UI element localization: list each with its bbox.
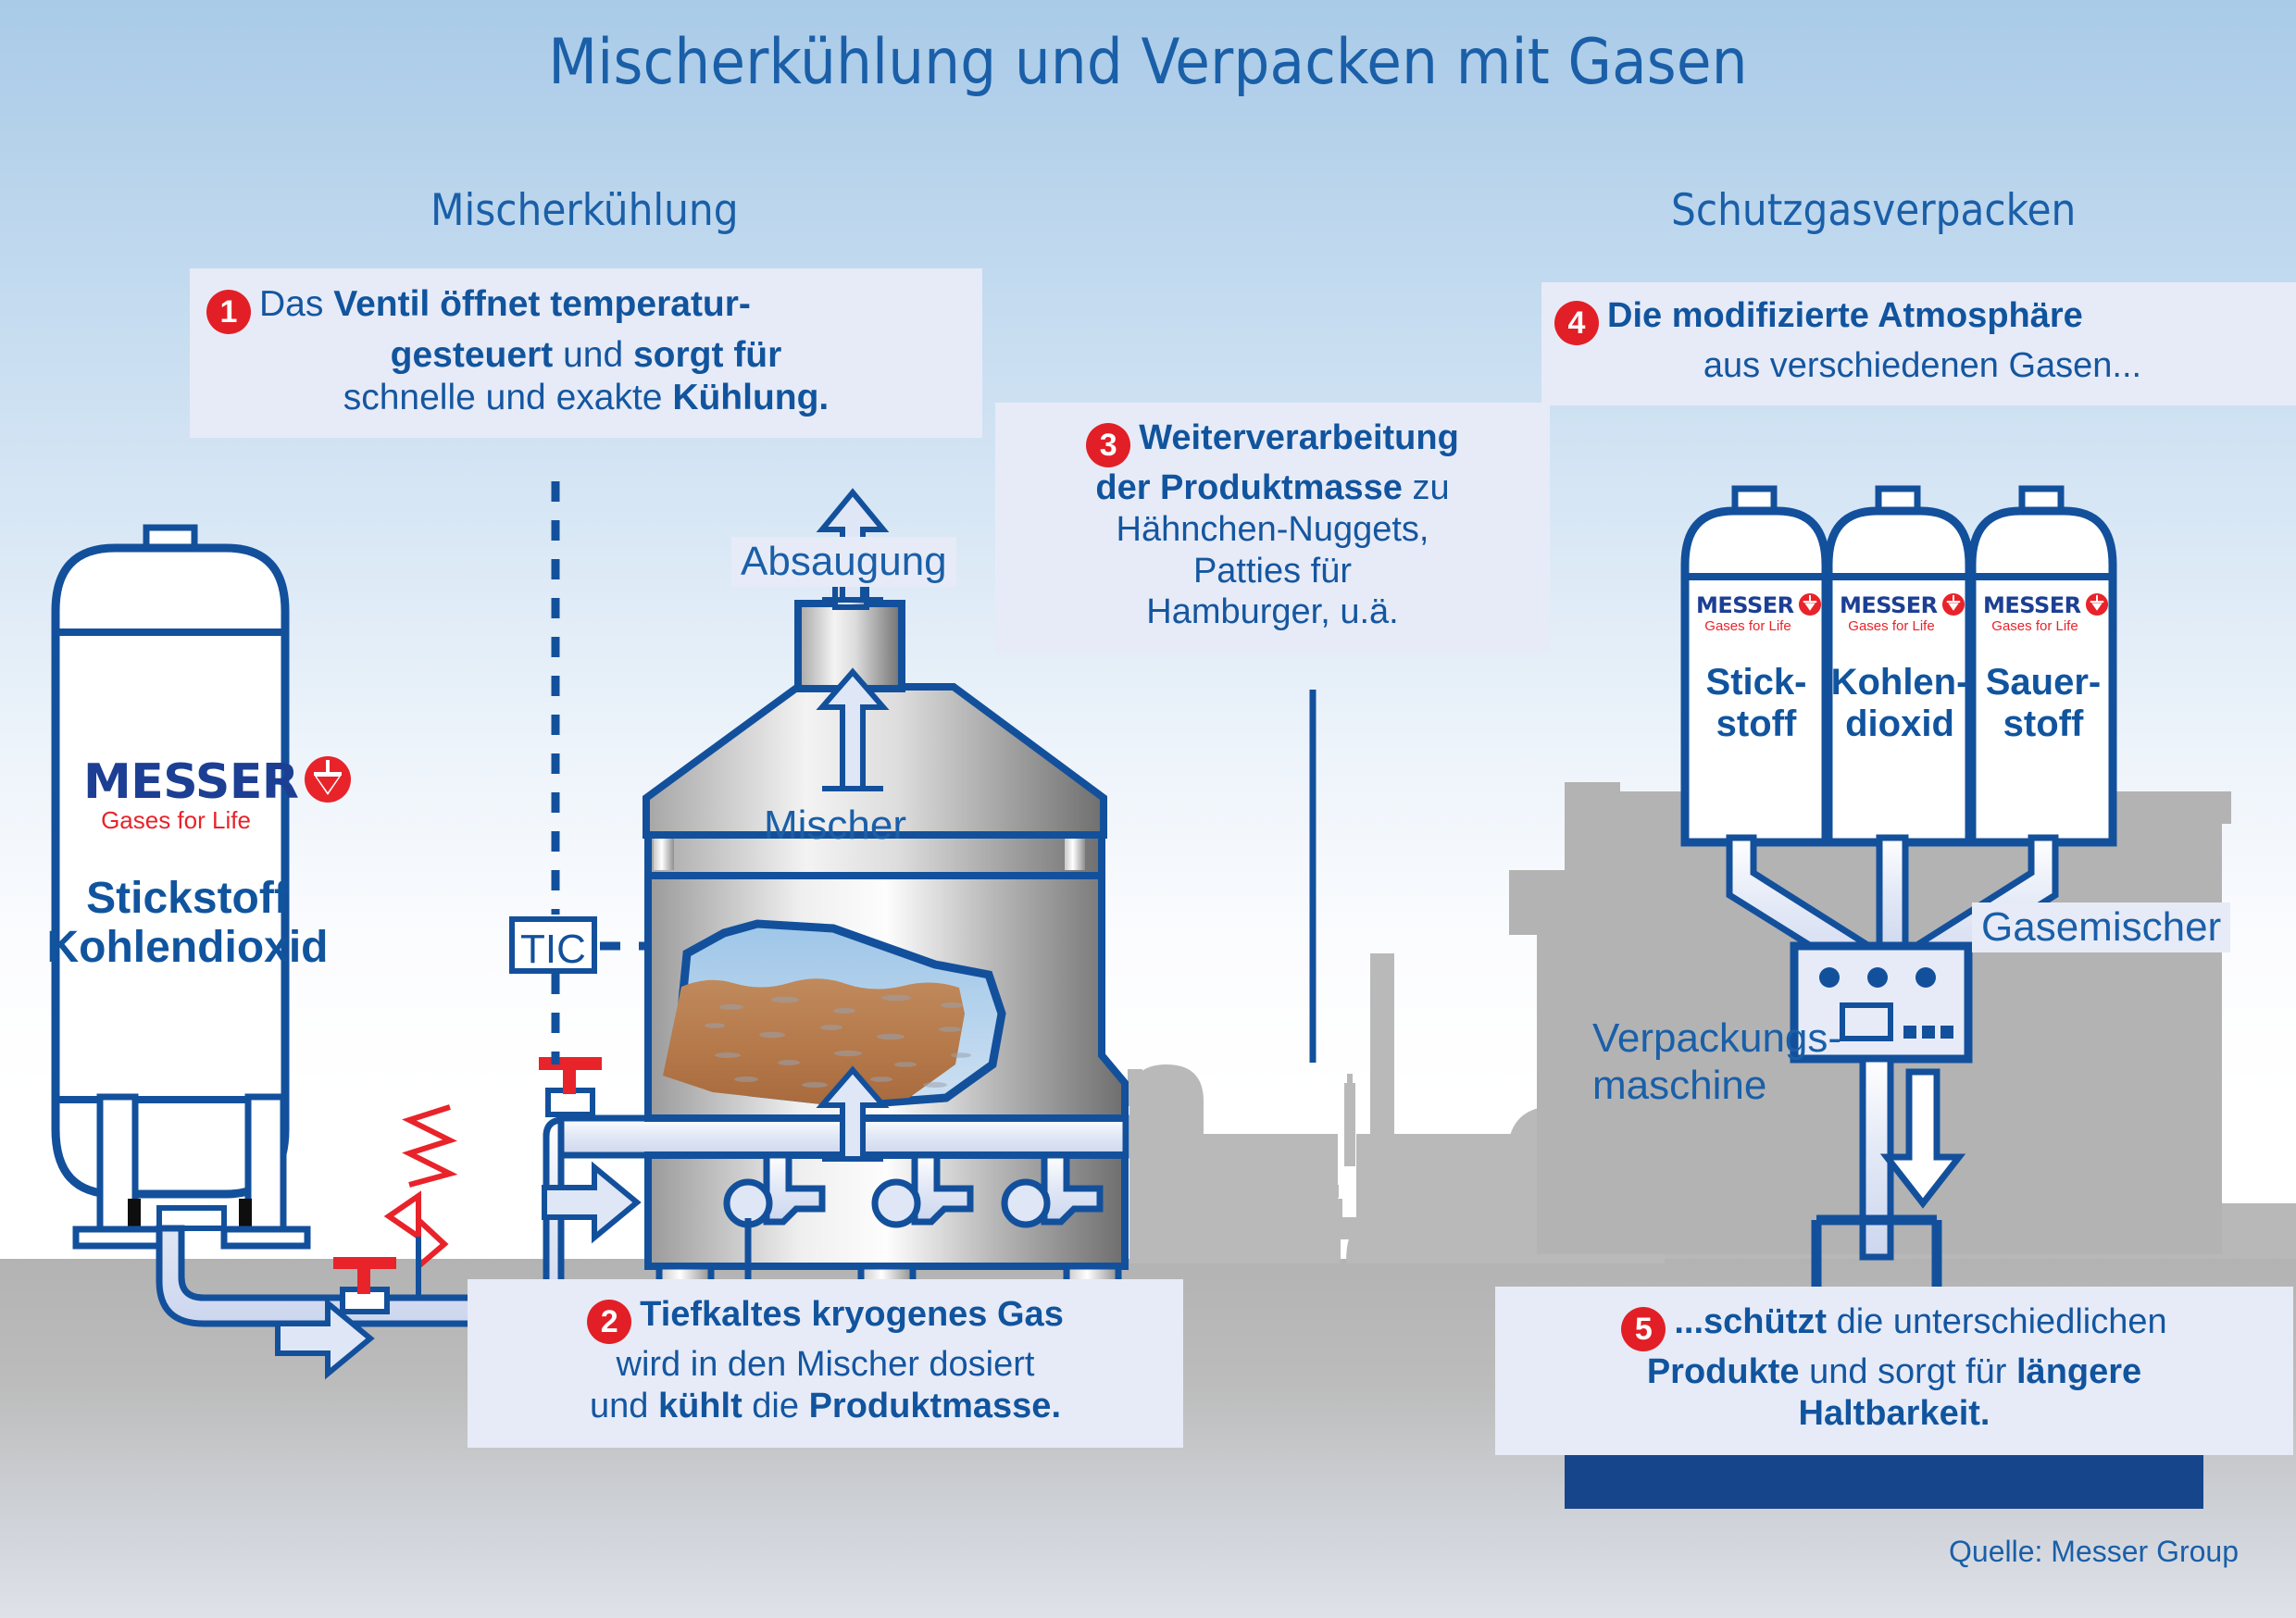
verpackungsmaschine-line1: Verpackungs- — [1592, 1015, 1841, 1061]
callout-1-line-3: schnelle und exakte Kühlung. — [206, 377, 966, 419]
callout-3-line-3: Hähnchen-Nuggets, — [1006, 509, 1539, 551]
source-attribution: Quelle: Messer Group — [1949, 1535, 2239, 1569]
messer-mark-icon — [2085, 592, 2109, 616]
callout-4: 4Die modifizierte Atmosphäreaus verschie… — [1541, 282, 2296, 405]
section-heading-schutzgasverpacken: Schutzgasverpacken — [1671, 185, 2076, 236]
messer-mark-icon — [1941, 592, 1965, 616]
cylinder-2-line2: dioxid — [1845, 703, 1954, 744]
callout-5-line-3: Haltbarkeit. — [1510, 1393, 2278, 1435]
callout-3-badge: 3 — [1086, 423, 1130, 467]
messer-tagline: Gases for Life — [83, 806, 268, 835]
tank-contents-line2: Kohlendioxid — [47, 923, 329, 972]
label-gasemischer: Gasemischer — [1972, 902, 2230, 952]
page-title: Mischerkühlung und Verpacken mit Gasen — [0, 26, 2296, 99]
section-heading-mischerkuehlung: Mischerkühlung — [430, 185, 739, 236]
callout-1-line-2: gesteuert und sorgt für — [206, 334, 966, 377]
messer-logo-cylinder-2: MESSER Gases for Life — [1840, 592, 1965, 634]
messer-mark-icon — [303, 754, 353, 804]
messer-logo-cylinder-1: MESSER Gases for Life — [1696, 592, 1822, 634]
cylinder-2-name: Kohlen- dioxid — [1830, 662, 1969, 745]
callout-4-line-1: 4Die modifizierte Atmosphäre — [1554, 295, 2290, 345]
callout-2-line-1: 2Tiefkaltes kryogenes Gas — [480, 1294, 1170, 1344]
callout-5-badge: 5 — [1621, 1307, 1666, 1351]
callout-1: 1Das Ventil öffnet temperatur-gesteuert … — [190, 268, 982, 438]
messer-tagline: Gases for Life — [1696, 618, 1800, 634]
messer-wordmark: MESSER — [1696, 592, 1794, 618]
messer-logo-tank: MESSER Gases for Life — [83, 754, 353, 835]
callout-2-badge: 2 — [587, 1300, 631, 1344]
cylinder-3-name: Sauer- stoff — [1974, 662, 2113, 745]
callout-1-badge: 1 — [206, 290, 251, 334]
messer-wordmark: MESSER — [1983, 592, 2081, 618]
callout-1-line-1: 1Das Ventil öffnet temperatur- — [206, 283, 966, 334]
cylinder-2-line1: Kohlen- — [1831, 662, 1969, 703]
label-verpackungsmaschine: Verpackungs- maschine — [1583, 1014, 1851, 1111]
cylinder-1-line1: Stick- — [1706, 662, 1807, 703]
messer-wordmark: MESSER — [1840, 592, 1938, 618]
tank-contents-line1: Stickstoff — [86, 874, 289, 923]
callout-5: 5...schützt die unterschiedlichenProdukt… — [1495, 1287, 2293, 1455]
messer-tagline: Gases for Life — [1840, 618, 1943, 634]
callout-2: 2Tiefkaltes kryogenes Gaswird in den Mis… — [468, 1279, 1183, 1448]
cylinder-3-line1: Sauer- — [1986, 662, 2102, 703]
infographic-root: Mischerkühlung und Verpacken mit Gasen M… — [0, 0, 2296, 1618]
cylinder-1-line2: stoff — [1716, 703, 1797, 744]
callout-3-line-5: Hamburger, u.ä. — [1006, 591, 1539, 633]
shutoff-valve-icon — [333, 1257, 396, 1312]
tank-contents: Stickstoff Kohlendioxid — [14, 875, 361, 973]
callout-3-line-4: Patties für — [1006, 551, 1539, 592]
callout-4-line-2: aus verschiedenen Gasen... — [1554, 345, 2290, 387]
label-mischer: Mischer — [755, 801, 916, 851]
cylinder-1-name: Stick- stoff — [1687, 662, 1826, 745]
callout-2-line-2: wird in den Mischer dosiert — [480, 1344, 1170, 1386]
callout-5-line-2: Produkte und sorgt für längere — [1510, 1351, 2278, 1393]
verpackungsmaschine-line2: maschine — [1592, 1063, 1766, 1108]
callout-3-line-1: 3Weiterverarbeitung — [1006, 417, 1539, 467]
callout-2-line-3: und kühlt die Produktmasse. — [480, 1386, 1170, 1427]
messer-logo-cylinder-3: MESSER Gases for Life — [1983, 592, 2109, 634]
callout-3-line-2: der Produktmasse zu — [1006, 467, 1539, 509]
messer-mark-icon — [1798, 592, 1822, 616]
temperature-control-valve-icon — [539, 1057, 602, 1114]
callout-4-badge: 4 — [1554, 301, 1599, 345]
tic-controller[interactable]: TIC — [509, 916, 597, 974]
callout-5-line-1: 5...schützt die unterschiedlichen — [1510, 1301, 2278, 1351]
callout-3: 3Weiterverarbeitungder Produktmasse zuHä… — [995, 403, 1550, 653]
messer-tagline: Gases for Life — [1983, 618, 2087, 634]
messer-wordmark: MESSER — [83, 754, 298, 810]
cylinder-3-line2: stoff — [2003, 703, 2084, 744]
label-absaugung: Absaugung — [731, 537, 956, 587]
